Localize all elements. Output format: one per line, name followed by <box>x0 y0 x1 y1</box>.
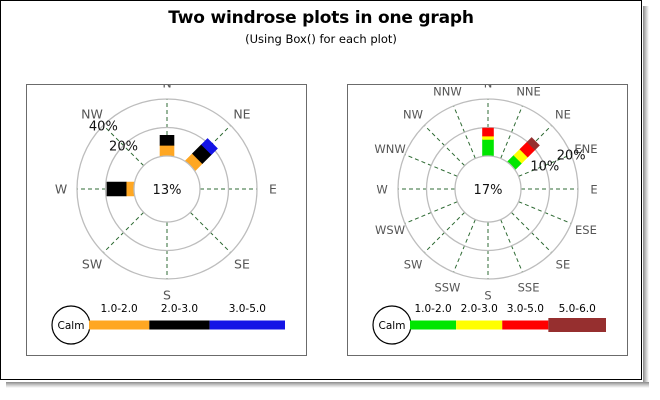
page-shadow-right <box>643 6 649 387</box>
direction-label-ne: NE <box>555 108 571 122</box>
direction-label-ne: NE <box>233 107 250 122</box>
windrose-center-value: 13% <box>153 183 182 198</box>
direction-label-ese: ESE <box>575 223 597 237</box>
direction-label-w: W <box>55 182 67 197</box>
windrose-box-right: 17%NNNENEENEEESESESSESSSWSWWSWWWNWNWNNW1… <box>347 84 628 356</box>
ring-label-40pct: 40% <box>89 119 118 134</box>
legend-swatch-3.0-5.0 <box>502 321 548 330</box>
ring-label-10pct: 10% <box>530 159 559 174</box>
legend-swatch-3.0-5.0 <box>210 321 285 330</box>
windrose-legend-right: Calm1.0-2.02.0-3.03.0-5.05.0-6.0 <box>348 293 629 355</box>
page-title: Two windrose plots in one graph <box>0 8 642 28</box>
direction-label-nw: NW <box>403 108 423 122</box>
legend-label-5.0-6.0: 5.0-6.0 <box>559 303 596 315</box>
windrose-legend-left: Calm1.0-2.02.0-3.03.0-5.0 <box>27 293 308 355</box>
calm-label: Calm <box>58 320 85 332</box>
legend-swatch-1.0-2.0 <box>410 321 456 330</box>
legend-label-1.0-2.0: 1.0-2.0 <box>101 303 138 315</box>
windrose-center-value: 17% <box>474 183 503 198</box>
legend-swatch-2.0-3.0 <box>149 321 209 330</box>
ring-label-20pct: 20% <box>557 149 586 164</box>
legend-label-3.0-5.0: 3.0-5.0 <box>507 303 544 315</box>
page-subtitle: (Using Box() for each plot) <box>0 32 642 46</box>
windrose-chart-right: 17%NNNENEENEEESESESSESSSWSWWSWWWNWNWNNW1… <box>348 85 629 300</box>
legend-swatch-2.0-3.0 <box>456 321 502 330</box>
direction-label-n: N <box>484 85 493 91</box>
legend-label-2.0-3.0: 2.0-3.0 <box>461 303 498 315</box>
direction-label-se: SE <box>556 257 571 271</box>
windrose-box-left: 13%NNEESESSWWNW20%40% Calm1.0-2.02.0-3.0… <box>26 84 307 356</box>
page-shadow-bottom <box>6 382 649 388</box>
calm-label: Calm <box>379 320 406 332</box>
direction-label-nne: NNE <box>516 85 540 99</box>
page-root: Two windrose plots in one graph (Using B… <box>0 0 660 400</box>
windrose-chart-left: 13%NNEESESSWWNW20%40% <box>27 85 308 300</box>
direction-label-wsw: WSW <box>375 223 405 237</box>
legend-label-3.0-5.0: 3.0-5.0 <box>229 303 266 315</box>
direction-label-wnw: WNW <box>374 142 405 156</box>
direction-label-n: N <box>162 85 171 91</box>
direction-label-se: SE <box>234 256 250 271</box>
direction-label-nnw: NNW <box>433 85 462 99</box>
direction-label-w: W <box>376 183 387 197</box>
direction-label-e: E <box>590 183 597 197</box>
ring-label-20pct: 20% <box>109 140 138 155</box>
legend-label-1.0-2.0: 1.0-2.0 <box>414 303 451 315</box>
legend-label-2.0-3.0: 2.0-3.0 <box>161 303 198 315</box>
legend-swatch-5.0-6.0 <box>548 318 606 332</box>
legend-swatch-1.0-2.0 <box>89 321 149 330</box>
direction-label-e: E <box>269 182 277 197</box>
direction-label-sw: SW <box>404 257 423 271</box>
direction-label-sw: SW <box>82 256 102 271</box>
